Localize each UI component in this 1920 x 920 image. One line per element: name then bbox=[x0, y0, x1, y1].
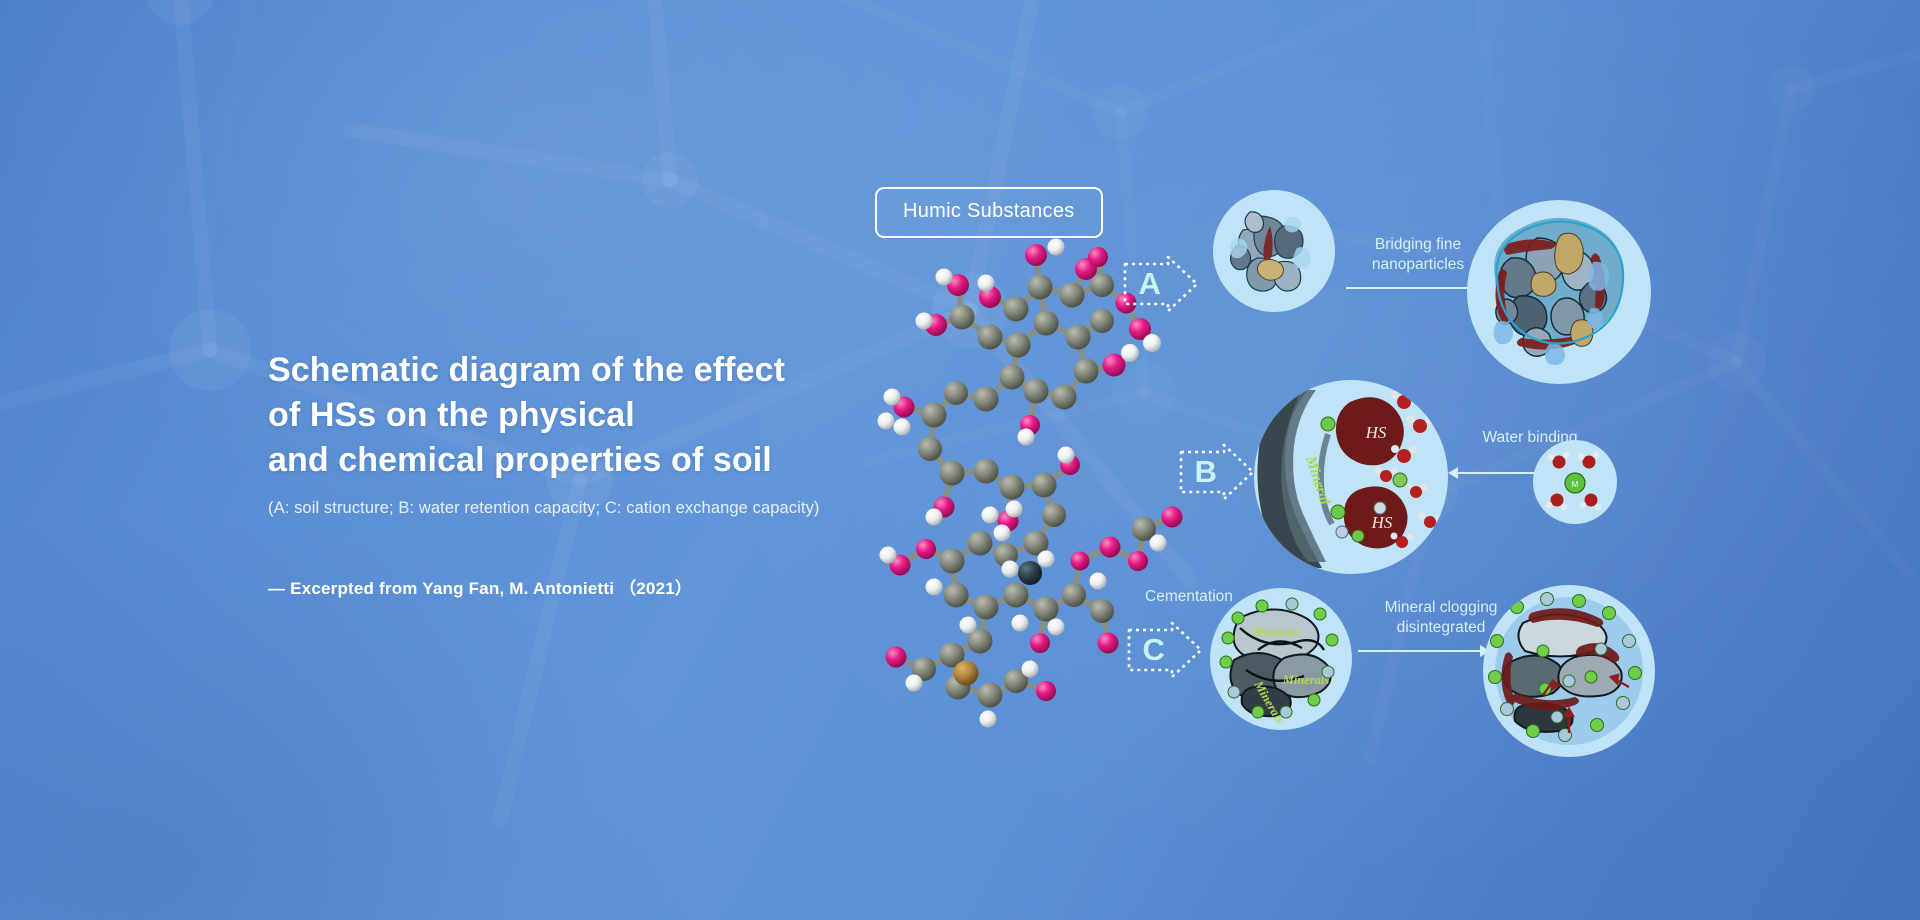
soil-particles-illustration-a bbox=[1213, 190, 1335, 312]
hs-blob-label-2: HS bbox=[1371, 513, 1393, 532]
step-letter-a: A bbox=[1122, 254, 1178, 314]
page-title: Schematic diagram of the effect of HSs o… bbox=[268, 348, 908, 483]
process-label-cementation: Cementation bbox=[1145, 588, 1233, 606]
soil-aggregate-illustration-a2 bbox=[1467, 200, 1651, 384]
step-arrow-a: A bbox=[1122, 254, 1200, 314]
bubble-minerals-disintegrated bbox=[1483, 585, 1655, 757]
bubble-minerals-clogged: Minerals Minerals Minerals bbox=[1210, 588, 1352, 730]
minerals-clogged-illustration: Minerals Minerals Minerals bbox=[1210, 588, 1352, 730]
minerals-label-1: Minerals bbox=[1252, 625, 1300, 639]
hs-blob-label-1: HS bbox=[1365, 423, 1387, 442]
bubble-hs-water-retention: HS HS Mineral bbox=[1254, 380, 1448, 574]
humic-substances-label: Humic Substances bbox=[875, 187, 1103, 238]
headline-line-2: of HSs on the physical bbox=[268, 393, 908, 438]
hydrated-cation-illustration: M bbox=[1533, 440, 1617, 524]
step-letter-c: C bbox=[1126, 620, 1182, 680]
step-arrow-b: B bbox=[1178, 442, 1256, 502]
minerals-disintegrated-illustration bbox=[1483, 585, 1655, 757]
cation-symbol: M bbox=[1572, 480, 1579, 489]
mineral-slab-label: Mineral bbox=[1302, 453, 1333, 507]
bubble-soil-aggregate-bridged bbox=[1467, 200, 1651, 384]
connector-line-a bbox=[1346, 287, 1486, 289]
connector-arrowhead-b bbox=[1448, 467, 1458, 479]
connector-line-c bbox=[1358, 650, 1480, 652]
headline-line-3: and chemical properties of soil bbox=[268, 438, 908, 483]
source-attribution: — Excerpted from Yang Fan, M. Antonietti… bbox=[268, 574, 908, 599]
bubble-soil-aggregate-loose bbox=[1213, 190, 1335, 312]
headline-line-1: Schematic diagram of the effect bbox=[268, 348, 908, 393]
step-arrow-c: C bbox=[1126, 620, 1204, 680]
title-block: Schematic diagram of the effect of HSs o… bbox=[268, 348, 908, 599]
legend-note: (A: soil structure; B: water retention c… bbox=[268, 499, 908, 518]
hs-mineral-water-illustration: HS HS Mineral bbox=[1254, 380, 1448, 574]
bubble-hydrated-cation: M bbox=[1533, 440, 1617, 524]
step-letter-b: B bbox=[1178, 442, 1234, 502]
poster-canvas: Schematic diagram of the effect of HSs o… bbox=[0, 0, 1920, 920]
minerals-label-2: Minerals bbox=[1282, 673, 1330, 687]
